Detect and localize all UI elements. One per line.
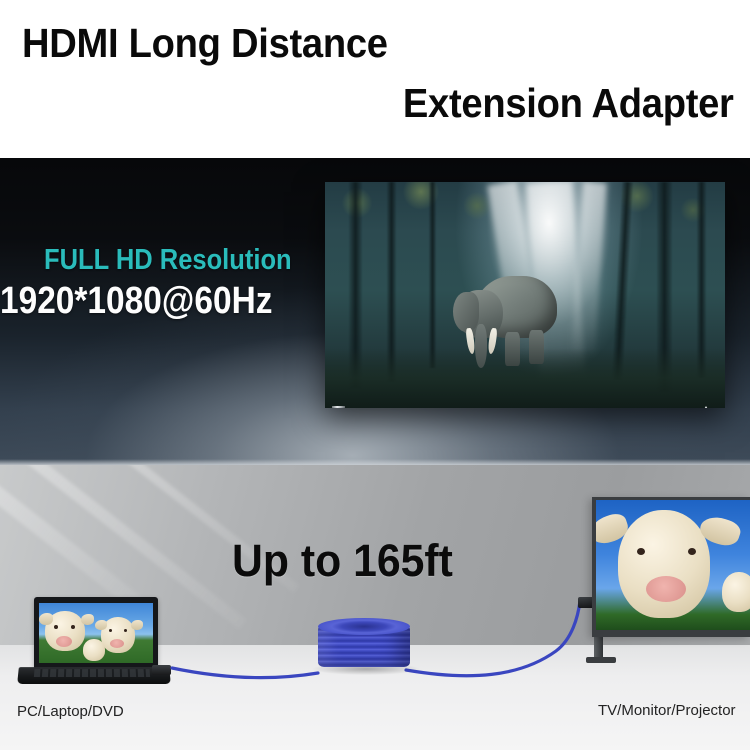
cow-nose — [56, 636, 72, 647]
laptop-screen-image — [39, 603, 153, 663]
cow-ear — [39, 613, 53, 625]
elephant-subject — [453, 270, 561, 374]
tv-stand-foot — [586, 657, 616, 663]
hdmi-connector-source — [152, 665, 171, 675]
cow-nose — [646, 576, 686, 602]
cow-eye — [688, 548, 696, 555]
tv-frame — [592, 497, 750, 637]
product-marketing-image: HDMI Long Distance Extension Adapter — [0, 0, 750, 750]
tree-trunk — [429, 182, 436, 368]
destination-device-label: TV/Monitor/Projector — [598, 702, 736, 719]
cow-eye — [71, 625, 75, 629]
cow-eye — [637, 548, 645, 555]
cow-ear — [95, 620, 107, 630]
page-title-line-1: HDMI Long Distance — [22, 20, 388, 67]
cable-coil-top — [318, 618, 410, 635]
tv-leg-left — [332, 406, 345, 408]
destination-tv — [592, 497, 750, 637]
calf-head — [722, 572, 750, 612]
laptop-lid — [34, 597, 158, 668]
cow-head — [83, 639, 105, 661]
resolution-label: FULL HD Resolution — [44, 244, 292, 277]
elephant-trunk — [475, 324, 487, 368]
cow-nose — [110, 639, 124, 648]
cow-eye — [54, 625, 58, 629]
hero-panel: FULL HD Resolution 1920*1080@60Hz — [0, 158, 750, 465]
source-device-label: PC/Laptop/DVD — [17, 703, 124, 720]
hero-tv-display — [325, 182, 725, 408]
tv-screen-image — [596, 500, 750, 630]
forest-scene-image — [325, 182, 725, 408]
distance-callout: Up to 165ft — [232, 535, 453, 587]
coiled-cable — [318, 617, 410, 674]
elephant-leg — [505, 332, 520, 366]
elephant-ear — [453, 292, 479, 332]
laptop-base — [17, 667, 171, 684]
cow-ear — [131, 620, 143, 630]
laptop-keyboard — [34, 669, 150, 677]
resolution-spec: 1920*1080@60Hz — [0, 280, 272, 323]
elephant-leg — [529, 330, 544, 364]
page-title-line-2: Extension Adapter — [403, 80, 734, 127]
cow-ear — [81, 614, 94, 625]
cow-eye — [109, 629, 112, 632]
source-laptop — [18, 597, 170, 685]
header-banner: HDMI Long Distance Extension Adapter — [0, 0, 750, 158]
tv-leg-right — [695, 406, 717, 408]
cow-eye — [124, 629, 127, 632]
